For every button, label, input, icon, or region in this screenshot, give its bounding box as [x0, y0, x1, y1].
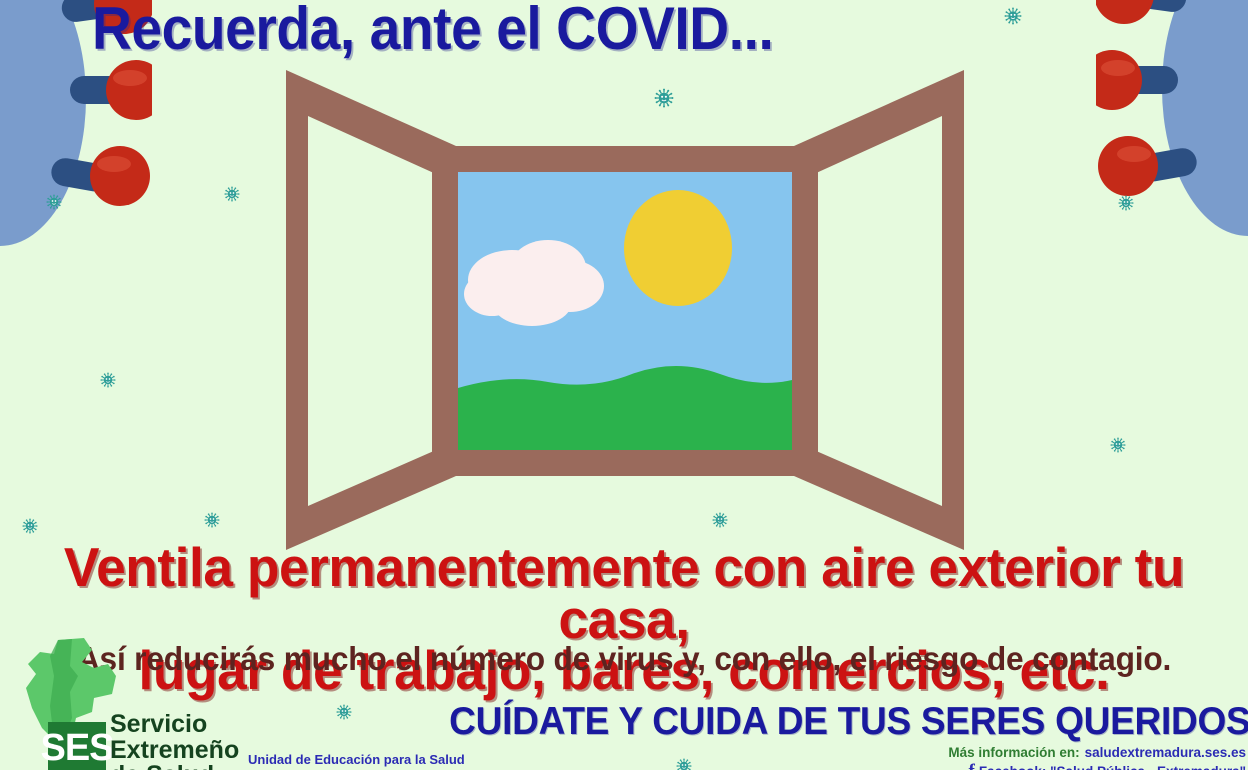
page-title: Recuerda, ante el COVID...: [92, 0, 773, 63]
ses-logo: SES Servicio Extremeño de Salud: [6, 636, 246, 770]
facebook-icon: f: [969, 762, 975, 770]
website-link[interactable]: saludextremadura.ses.es: [1085, 745, 1246, 760]
health-education-unit-label: Unidad de Educación para la Salud: [248, 752, 465, 767]
slogan: CUÍDATE Y CUIDA DE TUS SERES QUERIDOS: [449, 700, 1248, 744]
virus-particle-icon: [224, 186, 240, 202]
virus-particle-icon: [676, 758, 692, 770]
ses-logo-line1: Servicio: [110, 712, 239, 738]
more-info-label: Más información en:: [948, 745, 1079, 760]
ses-logo-text: Servicio Extremeño de Salud: [110, 712, 239, 770]
facebook-line[interactable]: f Facebook: "Salud Pública - Extremadura…: [969, 762, 1246, 770]
main-message-line1: Ventila permanentemente con aire exterio…: [19, 542, 1230, 645]
virus-particle-icon: [1110, 437, 1126, 453]
ses-logo-line2: Extremeño: [110, 738, 239, 764]
svg-text:SES: SES: [40, 727, 113, 769]
virus-particle-icon: [1004, 7, 1022, 25]
facebook-label: Facebook: "Salud Pública - Extremadura": [979, 764, 1246, 770]
virus-particle-icon: [204, 512, 220, 528]
corner-virus-top-right-icon: [1096, 0, 1248, 243]
open-window-illustration: [280, 58, 970, 558]
virus-particle-icon: [100, 372, 116, 388]
virus-particle-icon: [46, 194, 62, 210]
ses-logo-line3: de Salud: [110, 763, 239, 770]
virus-particle-icon: [1118, 195, 1134, 211]
poster-root: Recuerda, ante el COVID...: [0, 0, 1248, 770]
virus-particle-icon: [336, 704, 352, 720]
virus-particle-icon: [22, 518, 38, 534]
more-info-line: Más información en:saludextremadura.ses.…: [948, 745, 1246, 760]
